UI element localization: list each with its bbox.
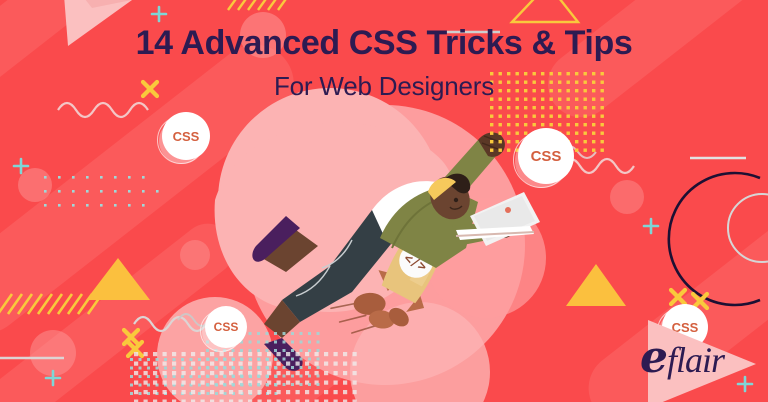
css-badge-label: CSS [214, 320, 239, 334]
logo-wordmark: eflair [640, 332, 724, 383]
css-badge: CSS [205, 306, 247, 348]
css-tricks-banner: </> [0, 0, 768, 402]
page-title: 14 Advanced CSS Tricks & Tips [0, 24, 768, 63]
css-badge: CSS [518, 128, 574, 184]
css-badge-label: CSS [531, 148, 562, 165]
eflair-logo[interactable]: eflair [632, 306, 762, 398]
page-subtitle: For Web Designers [0, 71, 768, 102]
logo-e-mark: e [640, 332, 667, 383]
title-block: 14 Advanced CSS Tricks & Tips For Web De… [0, 24, 768, 102]
css-badge-label: CSS [173, 129, 200, 144]
css-badge: CSS [162, 112, 210, 160]
logo-word: flair [667, 340, 724, 380]
